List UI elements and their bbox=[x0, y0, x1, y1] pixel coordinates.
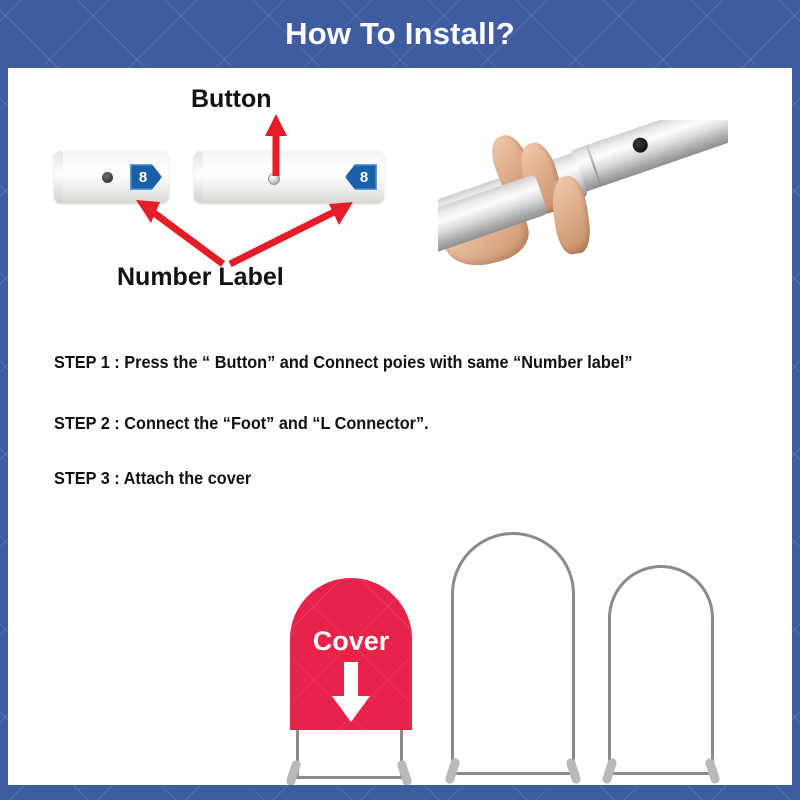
photo-tube-upper bbox=[569, 120, 728, 193]
spring-button bbox=[268, 173, 280, 185]
tube-seam bbox=[586, 145, 602, 187]
infographic-page: How To Install? 8 8 bbox=[0, 0, 800, 800]
photo-tube-hole bbox=[631, 136, 650, 155]
arch-large-crossbar bbox=[451, 772, 575, 775]
pole-photo bbox=[438, 120, 728, 280]
cover-foot-right bbox=[396, 759, 413, 785]
arch-small-crossbar bbox=[608, 772, 714, 775]
step-3: STEP 3 : Attach the cover bbox=[54, 468, 251, 489]
arch-small-outline bbox=[608, 565, 714, 775]
number-label-left-value: 8 bbox=[139, 169, 147, 186]
step-1: STEP 1 : Press the “ Button” and Connect… bbox=[54, 352, 632, 373]
header-bar: How To Install? bbox=[0, 0, 800, 68]
cover-label: Cover bbox=[290, 626, 412, 657]
pole-hole-left bbox=[102, 172, 113, 183]
number-label-callout: Number Label bbox=[117, 263, 284, 292]
red-arrow-icon-right bbox=[230, 202, 353, 264]
number-label-right-value: 8 bbox=[360, 169, 368, 186]
button-callout-label: Button bbox=[191, 85, 272, 114]
content-panel: 8 8 bbox=[8, 68, 792, 785]
cover-crossbar bbox=[296, 776, 403, 779]
arch-small bbox=[608, 565, 714, 785]
arch-large bbox=[451, 532, 575, 785]
arch-cover: Cover bbox=[290, 578, 412, 785]
page-title: How To Install? bbox=[285, 16, 515, 52]
arch-large-outline bbox=[451, 532, 575, 775]
step-2: STEP 2 : Connect the “Foot” and “L Conne… bbox=[54, 413, 429, 434]
red-arrow-icon-left bbox=[136, 200, 223, 264]
pole-cap-left bbox=[54, 151, 63, 203]
down-arrow-icon bbox=[328, 662, 374, 726]
cover-foot-left bbox=[285, 759, 302, 785]
pole-cap-right bbox=[194, 151, 203, 203]
